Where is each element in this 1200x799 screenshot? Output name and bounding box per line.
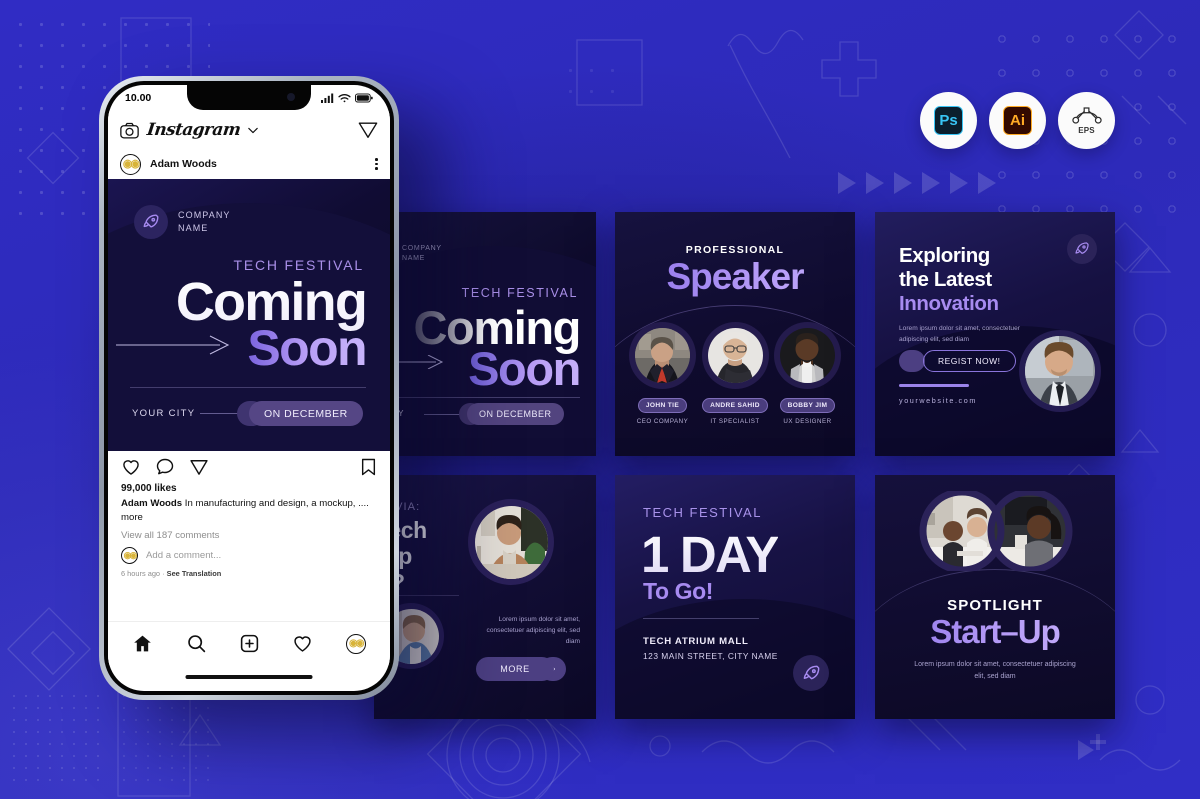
avatar-glyph: ◉◉ [123,159,138,170]
speaker-item[interactable]: BOBBY JIM UX DESIGNER [774,322,841,425]
bookmark-icon[interactable] [360,457,377,477]
avatar-ring [1019,330,1101,412]
chevron-down-icon[interactable] [248,127,258,134]
regist-now-button[interactable]: REGIST NOW! [923,350,1016,372]
pill-knob [899,350,925,372]
accent-bar [899,384,969,387]
card-title: Speaker [615,256,855,298]
camera-icon[interactable] [120,122,139,139]
post-headline-2: Soon [247,319,366,377]
phone-notch [187,85,311,110]
avatar[interactable]: ◉◉ [120,154,141,175]
divider [374,397,580,398]
card-company-name: COMPANYNAME [402,244,442,264]
timestamp-text: 6 hours ago [121,569,160,578]
card-venue: TECH ATRIUM MALL [643,636,749,647]
card-lorem: Lorem ipsum dolor sit amet, consectetuer… [484,615,580,648]
illustrator-icon: Ai [1003,106,1032,135]
see-translation-link[interactable]: See Translation [167,569,222,578]
plus-square-icon[interactable] [239,633,260,654]
search-icon[interactable] [186,633,207,654]
card-date-pill[interactable]: ON DECEMBER [467,403,564,425]
person-photo [1025,336,1095,406]
post-actions [108,451,390,483]
avatar-ring [629,322,696,389]
post-company-name: COMPANYNAME [178,209,231,235]
card-one-day-to-go[interactable]: TECH FESTIVAL 1 DAY To Go! TECH ATRIUM M… [615,475,855,719]
status-time: 10.00 [125,92,151,104]
rocket-icon [793,655,829,691]
avatar-ring [468,499,554,585]
phone-mockup: 10.00 [99,76,399,700]
instagram-wordmark: Instagram [146,120,242,140]
speaker-item[interactable]: JOHN TIE CEO COMPANY [629,322,696,425]
post-date-pill[interactable]: ON DECEMBER [249,401,363,426]
front-camera [287,93,295,101]
card-kicker: TECH FESTIVAL [643,505,762,520]
speaker-name: BOBBY JIM [780,398,836,413]
speaker-photo [635,328,690,383]
format-badges: Ps Ai EPS [920,92,1115,149]
post-username[interactable]: Adam Woods [150,158,217,170]
avatar-glyph: ◉◉ [349,639,362,649]
post-city-label: YOUR CITY [132,408,195,419]
bottom-tab-bar: ◉◉ [108,621,390,665]
speaker-role: IT SPECIALIST [702,418,769,425]
cellular-signal-icon [321,93,334,103]
status-indicators [321,93,373,103]
speaker-role: CEO COMPANY [629,418,696,425]
phone-bezel: 10.00 [104,81,394,695]
card-kicker: PROFESSIONAL [615,244,855,256]
card-headline: Exploring the Latest Innovation [899,244,999,315]
speaker-photo [780,328,835,383]
card-website: yourwebsite.com [899,396,977,405]
speaker-item[interactable]: ANDRE SAHID IT SPECIALIST [702,322,769,425]
speaker-list: JOHN TIE CEO COMPANY [629,322,841,425]
card-title: Start–Up [875,613,1115,651]
phone-screen[interactable]: 10.00 [108,85,390,691]
send-icon[interactable] [358,120,378,140]
divider [643,618,759,619]
wifi-icon [338,93,351,103]
person-photo [475,506,548,579]
photoshop-icon: Ps [934,106,963,135]
post-user-row[interactable]: ◉◉ Adam Woods [108,149,390,179]
instagram-logo-area[interactable]: Instagram [120,120,258,140]
card-kicker: SPOTLIGHT [875,597,1115,614]
separator-dot: · [162,569,164,578]
profile-avatar-icon[interactable]: ◉◉ [346,634,366,654]
rocket-icon [134,205,168,239]
card-headline: 1 DAY [641,525,778,584]
eps-badge[interactable]: EPS [1058,92,1115,149]
speaker-name: JOHN TIE [638,398,687,413]
avatar-ring [702,322,769,389]
add-comment-row[interactable]: ◉◉ Add a comment... [108,541,390,564]
arrow-right-icon [116,335,234,355]
speaker-role: UX DESIGNER [774,418,841,425]
illustrator-badge[interactable]: Ai [989,92,1046,149]
more-button[interactable]: MORE [476,657,554,681]
binocular-photo-frames [917,491,1075,571]
post-image[interactable]: COMPANYNAME TECH FESTIVAL Coming Soon YO… [108,179,390,451]
battery-icon [355,93,373,103]
home-indicator [186,675,313,679]
card-address: 123 MAIN STREET, CITY NAME [643,651,778,661]
likes-count: 99,000 likes [108,483,390,494]
photoshop-badge[interactable]: Ps [920,92,977,149]
heart-icon[interactable] [121,457,141,477]
card-headline-2: Soon [468,341,580,396]
kebab-menu-icon[interactable] [375,158,378,170]
send-icon[interactable] [189,457,209,477]
add-comment-input[interactable]: Add a comment... [146,550,221,561]
speaker-photo [708,328,763,383]
avatar-ring [774,322,841,389]
rocket-icon [1067,234,1097,264]
divider [130,387,366,388]
post-city-line [200,413,242,414]
post-timestamp: 6 hours ago · See Translation [108,564,390,578]
heart-icon[interactable] [292,633,313,654]
speaker-name: ANDRE SAHID [702,398,768,413]
avatar: ◉◉ [121,547,138,564]
card-professional-speaker[interactable]: PROFESSIONAL Speaker [615,212,855,456]
caption-text: In manufacturing and design, a mockup, [185,498,356,509]
instagram-header: Instagram [108,111,390,149]
caption-username[interactable]: Adam Woods [121,498,182,509]
card-lorem: Lorem ipsum dolor sit amet, consectetuer… [909,659,1081,683]
card-exploring-innovation[interactable]: Exploring the Latest Innovation Lorem ip… [875,212,1115,456]
comment-icon[interactable] [155,457,175,477]
avatar-glyph: ◉◉ [124,551,136,560]
card-spotlight-startup[interactable]: SPOTLIGHT Start–Up Lorem ipsum dolor sit… [875,475,1115,719]
view-comments-link[interactable]: View all 187 comments [108,525,390,541]
card-subhead: To Go! [643,578,713,605]
pen-tool-icon [1072,106,1102,125]
card-lorem: Lorem ipsum dolor sit amet, consectetuer… [899,324,1027,346]
post-caption: Adam Woods In manufacturing and design, … [108,494,390,525]
card-tech-trivia[interactable]: CH TRIVIA: ow tech art–up orks? [374,475,596,719]
eps-label: EPS [1078,126,1095,135]
home-icon[interactable] [132,633,153,654]
card-kicker: TECH FESTIVAL [462,286,578,300]
card-coming-soon[interactable]: COMPANYNAME TECH FESTIVAL Coming Soon CI… [374,212,596,456]
